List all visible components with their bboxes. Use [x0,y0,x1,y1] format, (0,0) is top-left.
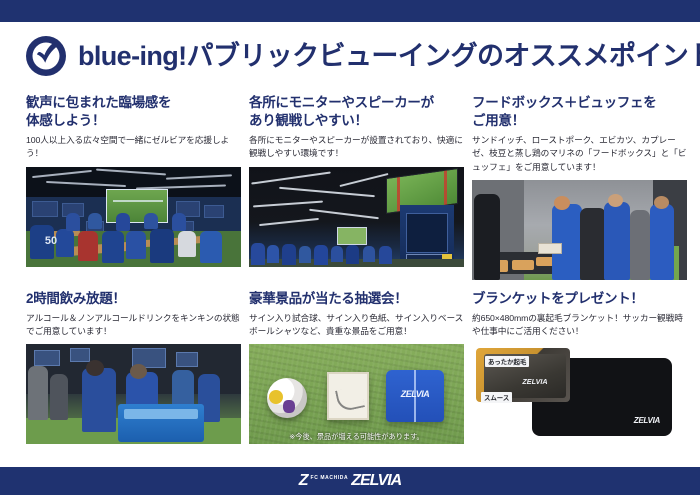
card-1-heading-line2: 体感しよう！ [26,113,105,128]
point-card-4: 2時間飲み放題！ アルコール＆ノンアルコールドリンクをキンキンの状態でご用意して… [26,290,241,444]
card-5-photo-caption: ※今後、景品が増える可能性があります。 [249,430,464,444]
check-circle-icon [24,34,68,78]
card-6-heading: ブランケットをプレゼント！ [472,290,687,308]
card-1-heading: 歓声に包まれた臨場感を 体感しよう！ [26,94,241,130]
point-card-6: ブランケットをプレゼント！ 約650×480mmの裏起毛ブランケット！サッカー観… [472,290,687,444]
footer-logo-z: Z [299,473,308,489]
page-title: blue-ing!パブリックビューイングのオススメポイント [78,43,700,70]
card-6-heading-line1: ブランケットをプレゼント！ [472,291,644,306]
card-3-heading: フードボックス＋ビュッフェを ご用意！ [472,94,687,130]
card-2-heading-line2: あり観戦しやすい！ [249,113,368,128]
blanket-brand-mark: ZELVIA [606,414,660,428]
baseball-shirt: ZELVIA [386,370,444,422]
signed-board [327,372,369,420]
points-grid: 歓声に包まれた臨場感を 体感しよう！ 100人以上入る広々空間で一緒にゼルビアを… [26,94,674,444]
card-4-heading: 2時間飲み放題！ [26,290,241,308]
blanket-fold-brand-mark: ZELVIA [510,376,560,387]
point-card-3: フードボックス＋ビュッフェを ご用意！ サンドイッチ、ローストポーク、エビカツ、… [472,94,687,280]
card-4-heading-line1: 2時間飲み放題！ [26,291,126,306]
poster-page: blue-ing!パブリックビューイングのオススメポイント 歓声に包まれた臨場感… [0,0,700,495]
tag-warm-fleece: あったか起毛 [485,356,529,367]
card-2-heading: 各所にモニターやスピーカーが あり観戦しやすい！ [249,94,464,130]
card-5-photo: ZELVIA ※今後、景品が増える可能性があります。 [249,344,464,444]
blanket-folded: あったか起毛 スムース ZELVIA [476,348,570,402]
page-header: blue-ing!パブリックビューイングのオススメポイント [0,22,700,90]
card-2-description: 各所にモニターやスピーカーが設置されており、快適に観戦しやすい環境です！ [249,134,464,160]
card-4-photo [26,344,241,444]
card-2-heading-line1: 各所にモニターやスピーカーが [249,95,434,110]
point-card-1: 歓声に包まれた臨場感を 体感しよう！ 100人以上入る広々空間で一緒にゼルビアを… [26,94,241,280]
footer-logo-main: ZELVIA [351,473,401,489]
card-2-photo [249,167,464,267]
point-card-2: 各所にモニターやスピーカーが あり観戦しやすい！ 各所にモニターやスピーカーが設… [249,94,464,280]
card-1-description: 100人以上入る広々空間で一緒にゼルビアを応援しよう！ [26,134,241,160]
bottom-navy-bar: Z FC MACHIDA ZELVIA [0,467,700,495]
card-5-description: サイン入り試合球、サイン入り色紙、サイン入りベースボールシャツなど、貴重な景品を… [249,312,464,338]
footer-logo: Z FC MACHIDA ZELVIA [299,473,401,489]
card-3-heading-line1: フードボックス＋ビュッフェを [472,95,656,110]
card-1-photo: 50 [26,167,241,267]
card-1-heading-line1: 歓声に包まれた臨場感を [26,95,171,110]
shirt-brand-text: ZELVIA [396,388,434,400]
point-card-5: 豪華景品が当たる抽選会！ サイン入り試合球、サイン入り色紙、サイン入りベースボー… [249,290,464,444]
soccer-ball [267,378,307,418]
card-6-description: 約650×480mmの裏起毛ブランケット！サッカー観戦時や仕事中にご活用ください… [472,312,687,338]
card-1-jersey-number: 50 [40,235,62,255]
tag-smooth: スムース [481,392,512,403]
top-navy-bar [0,0,700,22]
card-3-description: サンドイッチ、ローストポーク、エビカツ、カプレーゼ、枝豆と蒸し鶏のマリネの「フー… [472,134,687,173]
card-6-photo: ZELVIA あったか起毛 スムース ZELVIA [472,344,687,444]
footer-logo-sub: FC MACHIDA [311,475,349,481]
card-3-heading-line2: ご用意！ [472,113,525,128]
card-5-heading-line1: 豪華景品が当たる抽選会！ [249,291,407,306]
card-5-heading: 豪華景品が当たる抽選会！ [249,290,464,308]
card-4-description: アルコール＆ノンアルコールドリンクをキンキンの状態でご用意しています！ [26,312,241,338]
card-3-photo [472,180,687,280]
